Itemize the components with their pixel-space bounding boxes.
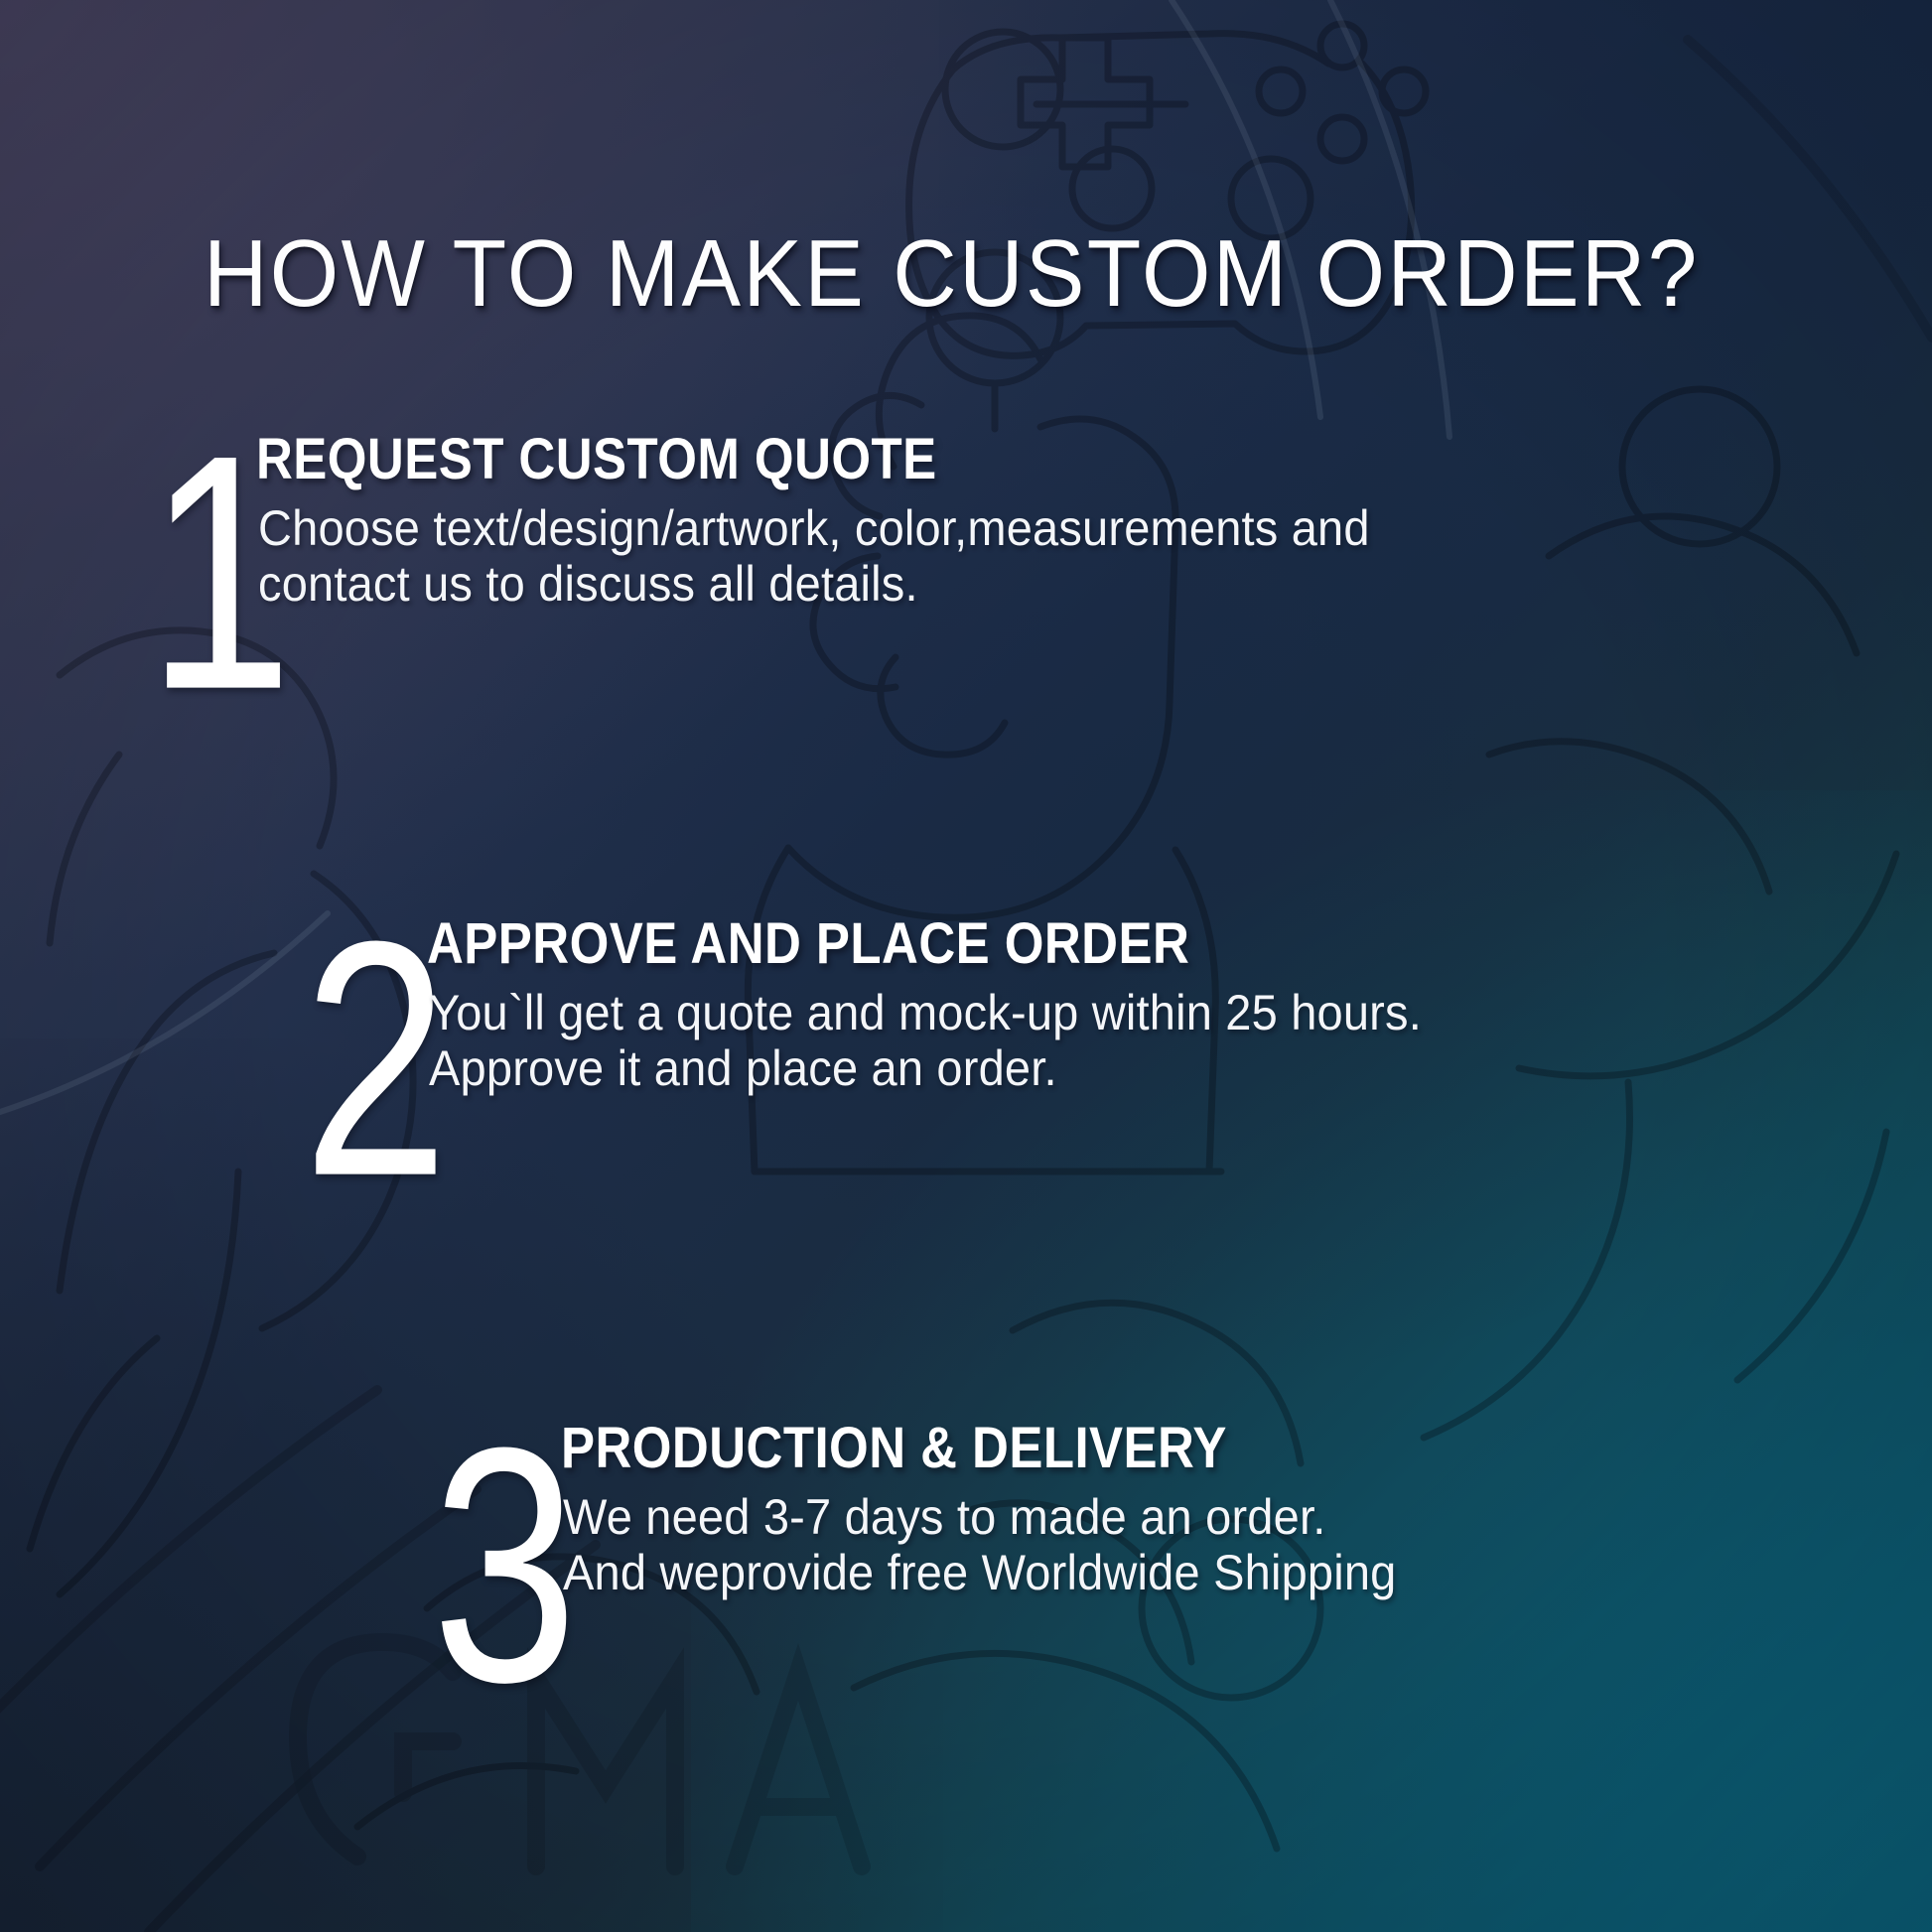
step-body-2: You`ll get a quote and mock-up within 25… — [429, 985, 1422, 1096]
poster-canvas: HOW TO MAKE CUSTOM ORDER? 1 REQUEST CUST… — [0, 0, 1932, 1932]
step-number-2: 2 — [303, 892, 444, 1226]
page-title: HOW TO MAKE CUSTOM ORDER? — [204, 226, 1700, 322]
step-number-3: 3 — [432, 1398, 573, 1732]
step-body-line: We need 3-7 days to made an order. — [563, 1489, 1397, 1545]
step-body-3: We need 3-7 days to made an order. And w… — [563, 1489, 1397, 1600]
step-body-line: contact us to discuss all details. — [258, 556, 1370, 612]
step-heading-1: REQUEST CUSTOM QUOTE — [256, 431, 937, 488]
step-body-line: Approve it and place an order. — [429, 1040, 1422, 1096]
poster-content: HOW TO MAKE CUSTOM ORDER? 1 REQUEST CUST… — [0, 0, 1932, 1932]
step-body-line: You`ll get a quote and mock-up within 25… — [429, 985, 1422, 1040]
step-body-line: And weprovide free Worldwide Shipping — [563, 1545, 1397, 1600]
step-body-line: Choose text/design/artwork, color,measur… — [258, 500, 1370, 556]
step-heading-3: PRODUCTION & DELIVERY — [561, 1420, 1227, 1477]
step-body-1: Choose text/design/artwork, color,measur… — [258, 500, 1370, 612]
step-heading-2: APPROVE AND PLACE ORDER — [427, 915, 1189, 973]
